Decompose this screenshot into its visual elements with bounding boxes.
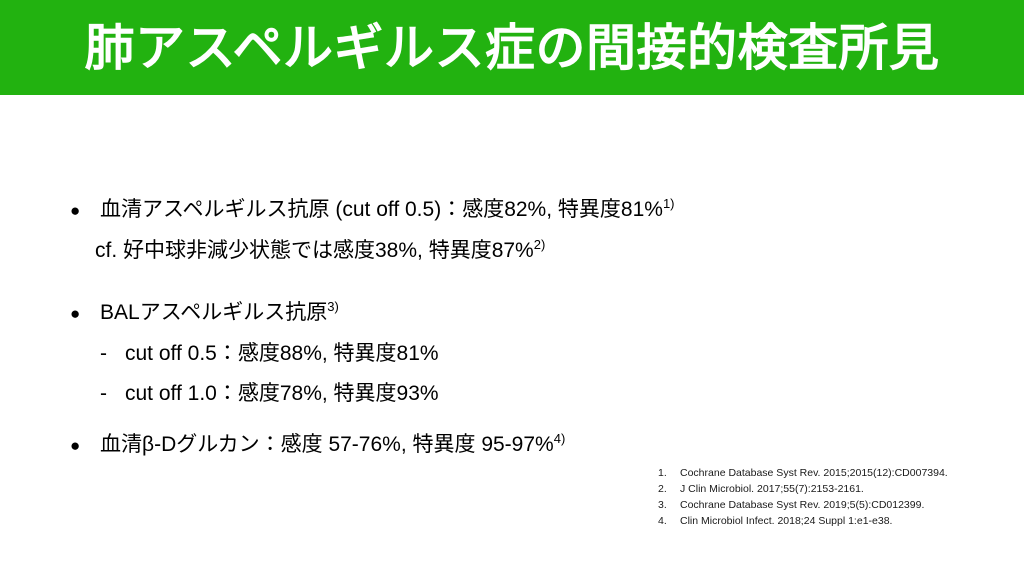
reference-superscript: 3): [327, 299, 339, 314]
bullet-item: ● 血清アスペルギルス抗原 (cut off 0.5)：感度82%, 特異度81…: [70, 190, 675, 231]
bullet-text: 血清アスペルギルス抗原 (cut off 0.5)：感度82%, 特異度81%1…: [100, 190, 675, 230]
reference-item: 4. Clin Microbiol Infect. 2018;24 Suppl …: [658, 513, 1018, 529]
reference-item: 1. Cochrane Database Syst Rev. 2015;2015…: [658, 465, 1018, 481]
sub-bullet-text: cut off 0.5：感度88%, 特異度81%: [125, 334, 439, 374]
bullet-dot-icon: ●: [70, 426, 100, 466]
reference-number: 3.: [658, 497, 680, 513]
bullet-group-1: ● 血清アスペルギルス抗原 (cut off 0.5)：感度82%, 特異度81…: [70, 190, 675, 271]
bullet-subnote-text: cf. 好中球非減少状態では感度38%, 特異度87%2): [95, 231, 545, 271]
reference-item: 2. J Clin Microbiol. 2017;55(7):2153-216…: [658, 481, 1018, 497]
reference-citation: Cochrane Database Syst Rev. 2019;5(5):CD…: [680, 497, 1018, 513]
reference-number: 1.: [658, 465, 680, 481]
sub-bullet-item: - cut off 0.5：感度88%, 特異度81%: [70, 334, 439, 374]
bullet-group-2: ● BALアスペルギルス抗原3) - cut off 0.5：感度88%, 特異…: [70, 293, 439, 414]
page-title: 肺アスペルギルス症の間接的検査所見: [0, 0, 1024, 95]
bullet-dot-icon: ●: [70, 294, 100, 334]
reference-number: 4.: [658, 513, 680, 529]
reference-item: 3. Cochrane Database Syst Rev. 2019;5(5)…: [658, 497, 1018, 513]
reference-number: 2.: [658, 481, 680, 497]
reference-superscript: 1): [663, 196, 675, 211]
bullet-dot-icon: ●: [70, 191, 100, 231]
reference-citation: Cochrane Database Syst Rev. 2015;2015(12…: [680, 465, 1018, 481]
reference-superscript: 4): [554, 431, 566, 446]
bullet-subnote: cf. 好中球非減少状態では感度38%, 特異度87%2): [70, 231, 675, 271]
reference-list: 1. Cochrane Database Syst Rev. 2015;2015…: [658, 465, 1018, 529]
dash-marker-icon: -: [100, 374, 125, 414]
reference-superscript: 2): [534, 237, 546, 252]
reference-citation: Clin Microbiol Infect. 2018;24 Suppl 1:e…: [680, 513, 1018, 529]
bullet-group-3: ● 血清β-Dグルカン：感度 57-76%, 特異度 95-97%4): [70, 425, 565, 466]
reference-citation: J Clin Microbiol. 2017;55(7):2153-2161.: [680, 481, 1018, 497]
bullet-text: BALアスペルギルス抗原3): [100, 293, 339, 333]
bullet-item: ● 血清β-Dグルカン：感度 57-76%, 特異度 95-97%4): [70, 425, 565, 466]
sub-bullet-item: - cut off 1.0：感度78%, 特異度93%: [70, 374, 439, 414]
dash-marker-icon: -: [100, 334, 125, 374]
bullet-item: ● BALアスペルギルス抗原3): [70, 293, 439, 334]
bullet-text: 血清β-Dグルカン：感度 57-76%, 特異度 95-97%4): [100, 425, 565, 465]
sub-bullet-text: cut off 1.0：感度78%, 特異度93%: [125, 374, 439, 414]
